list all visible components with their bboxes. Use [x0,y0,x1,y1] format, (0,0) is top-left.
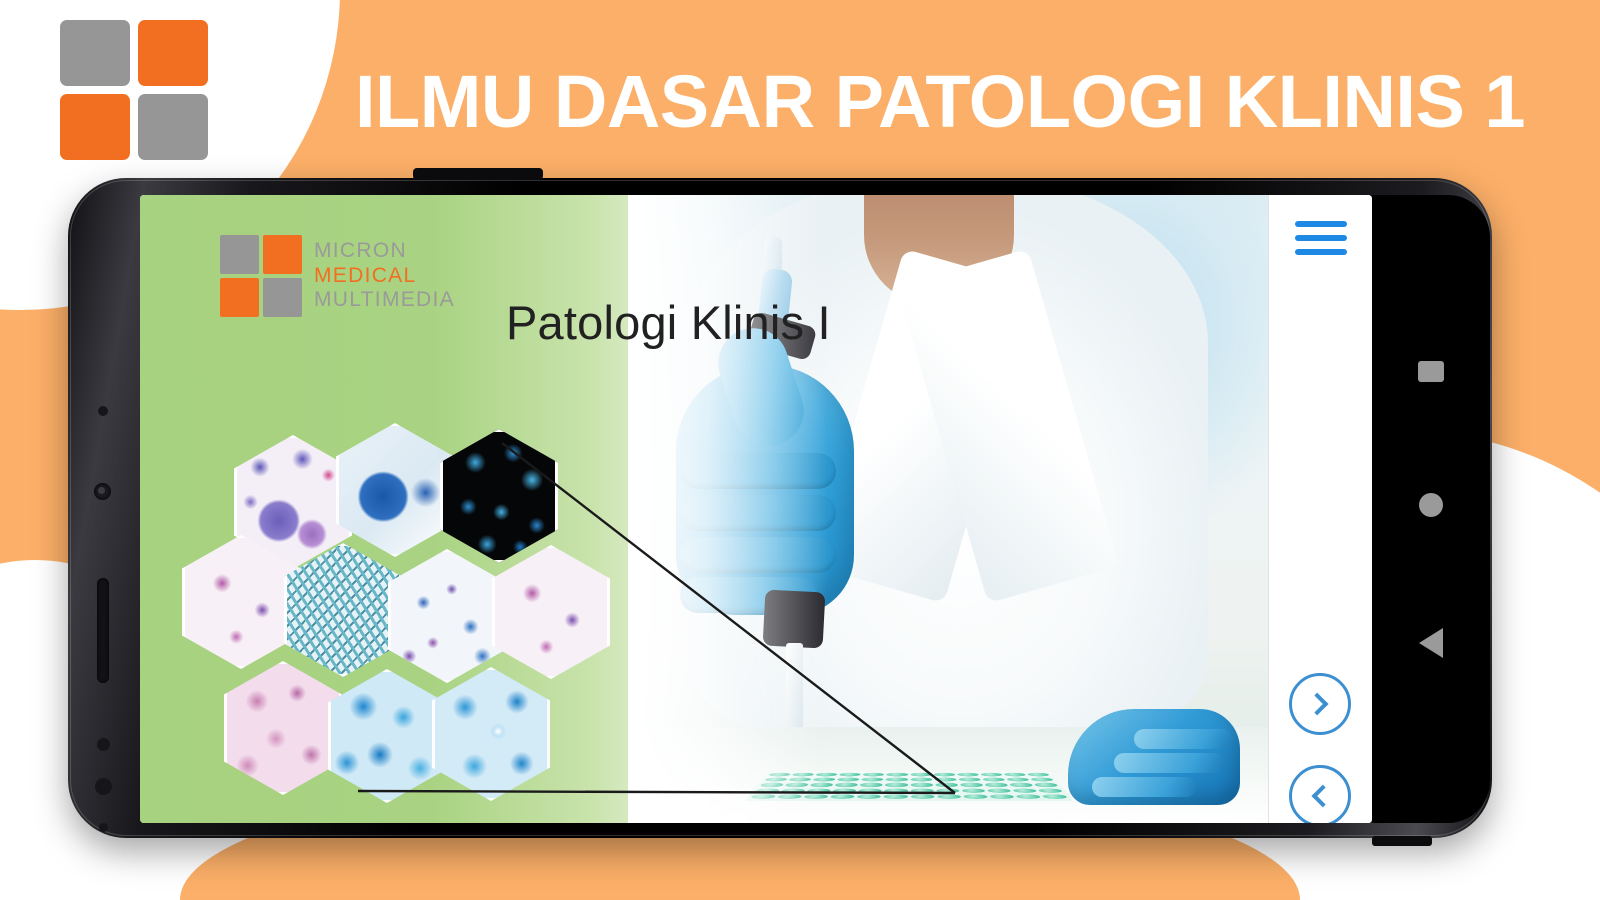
slide-logo-tile-bottom-left [220,278,259,317]
plate-well [910,778,932,782]
slide-logo-line-medical: MEDICAL [314,264,455,289]
hex-micrograph-9 [432,667,550,801]
app-control-rail [1268,195,1372,823]
hex-micrograph-6b [492,545,610,679]
plate-well [934,778,956,782]
presentation-slide[interactable]: MICRON MEDICAL MULTIMEDIA Patologi Klini… [140,195,1268,823]
brandmark-tile-bottom-left [60,94,130,160]
gloved-finger-c [1134,729,1232,749]
plate-well [1006,778,1030,782]
home-circle-icon[interactable] [1419,493,1443,517]
plate-well [989,794,1015,799]
hex-micrograph-2 [336,423,454,557]
plate-well [910,794,934,799]
hex-micrograph-7 [224,661,342,795]
hamburger-bar-1 [1295,221,1347,227]
plate-well [957,773,979,777]
gloved-finger-a [1092,777,1196,797]
plate-well [963,794,988,799]
slide-logo-line-micron: MICRON [314,239,455,264]
hex-micrograph-3 [440,429,558,563]
phone-bottom-nub [1372,836,1432,846]
phone-screen: MICRON MEDICAL MULTIMEDIA Patologi Klini… [140,195,1372,823]
gloved-hand-secondary [1068,709,1240,805]
gloved-finger-b [1114,753,1224,773]
slide-logo-tile-bottom-right [263,278,302,317]
recents-square-icon[interactable] [1418,361,1444,382]
hamburger-bar-3 [1295,249,1347,255]
slide-logo-tile-top-left [220,235,259,274]
plate-well [885,783,907,787]
plate-well [958,778,981,782]
plate-well [1027,773,1051,777]
hexagon-micrograph-collage [228,423,618,823]
plate-well [1030,778,1054,782]
hex-micrograph-5 [388,549,506,683]
plate-well [884,794,908,799]
plate-well [860,783,883,787]
plate-well [910,788,933,792]
phone-sensor-d [99,823,108,832]
phone-front-camera-icon [94,483,111,500]
back-triangle-icon[interactable] [1419,628,1443,658]
plate-well [1037,788,1063,792]
phone-proximity-sensor [98,406,108,416]
phone-earpiece-speaker [97,578,109,683]
plate-well [837,778,860,782]
phone-sensor-c [95,778,112,795]
android-system-navigation-bar [1372,195,1490,823]
plate-well [934,773,956,777]
plate-well [984,783,1008,787]
plate-well [884,788,907,792]
app-store-feature-banner: ILMU DASAR PATOLOGI KLINIS 1 [0,0,1600,900]
chevron-left-icon [1312,785,1335,808]
brandmark-tile-top-left [60,20,130,86]
plate-well [1015,794,1041,799]
next-slide-button[interactable] [1289,673,1351,735]
plate-well [980,773,1003,777]
hamburger-bar-2 [1295,235,1347,241]
slide-title: Patologi Klinis I [506,295,831,350]
plate-well [987,788,1012,792]
chevron-right-icon [1306,693,1329,716]
plate-well [1041,794,1068,799]
previous-slide-button[interactable] [1289,765,1351,823]
plate-well [833,788,857,792]
plate-well [936,788,960,792]
plate-well [835,783,859,787]
slide-logo: MICRON MEDICAL MULTIMEDIA [220,235,455,317]
plate-well [961,788,985,792]
plate-well [1012,788,1037,792]
laboratory-photo [628,195,1268,823]
plate-well [857,794,881,799]
slide-logo-line-multimedia: MULTIMEDIA [314,288,455,313]
brandmark-tile-bottom-right [138,94,208,160]
plate-well [886,778,908,782]
banner-headline: ILMU DASAR PATOLOGI KLINIS 1 [355,56,1415,146]
phone-device-mockup: MICRON MEDICAL MULTIMEDIA Patologi Klini… [68,178,1492,838]
plate-well [960,783,984,787]
plate-well [982,778,1005,782]
app-viewport: MICRON MEDICAL MULTIMEDIA Patologi Klini… [140,195,1372,823]
plate-well [910,783,932,787]
hamburger-menu-icon[interactable] [1295,219,1347,257]
plate-well [1003,773,1026,777]
brandmark-tile-top-right [138,20,208,86]
phone-sensor-b [97,738,110,751]
slide-logo-tile-top-right [263,235,302,274]
plate-well [887,773,908,777]
plate-well [839,773,861,777]
plate-well [861,778,883,782]
plate-well [1009,783,1034,787]
plate-well [910,773,931,777]
slide-logo-wordmark: MICRON MEDICAL MULTIMEDIA [314,239,455,313]
brandmark-logo [60,20,208,160]
plate-well [935,783,958,787]
photo-left-fade [628,195,828,823]
plate-well [937,794,961,799]
plate-well [830,794,855,799]
slide-logo-tiles [220,235,302,317]
plate-well [858,788,882,792]
plate-well [1033,783,1058,787]
hex-micrograph-8 [328,669,446,803]
plate-well [863,773,885,777]
phone-top-nub [413,168,543,180]
